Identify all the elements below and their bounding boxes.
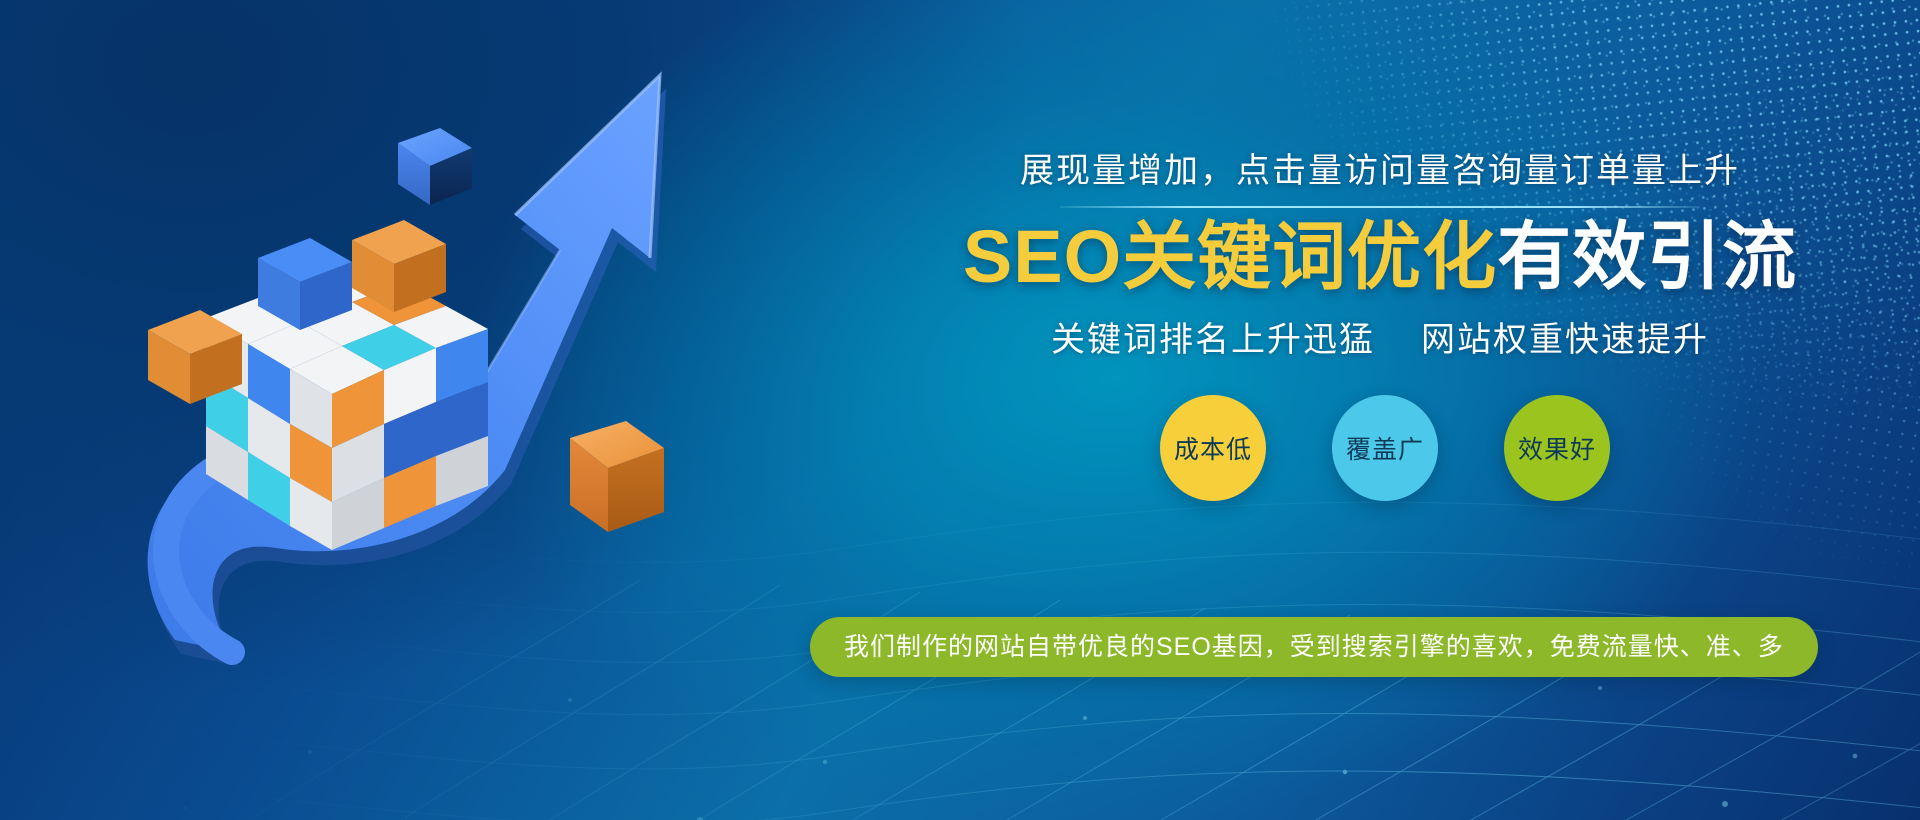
subline-right: 网站权重快速提升 xyxy=(1421,321,1709,359)
feature-circle-cost[interactable]: 成本低 xyxy=(1160,395,1266,501)
feature-circle-group: 成本低 覆盖广 效果好 xyxy=(880,395,1880,501)
feature-circle-cost-label: 成本低 xyxy=(1174,430,1252,466)
arrow-and-cube-illustration xyxy=(0,0,760,820)
feature-circle-effect-label: 效果好 xyxy=(1518,430,1596,466)
banner-copy-block: 展现量增加，点击量访问量咨询量订单量上升 SEO关键词优化有效引流 关键词排名上… xyxy=(880,150,1880,501)
headline: SEO关键词优化有效引流 xyxy=(880,216,1880,299)
eyebrow-text: 展现量增加，点击量访问量咨询量订单量上升 xyxy=(880,150,1880,193)
floating-orange-cube xyxy=(570,421,664,532)
seo-promo-banner: 展现量增加，点击量访问量咨询量订单量上升 SEO关键词优化有效引流 关键词排名上… xyxy=(0,0,1920,820)
feature-circle-reach[interactable]: 覆盖广 xyxy=(1332,395,1438,501)
floating-blue-cube xyxy=(398,128,472,205)
tagline-pill-wrapper: 我们制作的网站自带优良的SEO基因，受到搜索引擎的喜欢，免费流量快、准、多 xyxy=(810,617,1818,677)
headline-accent: SEO关键词优化 xyxy=(963,215,1497,298)
feature-circle-reach-label: 覆盖广 xyxy=(1346,430,1424,466)
tagline-pill: 我们制作的网站自带优良的SEO基因，受到搜索引擎的喜欢，免费流量快、准、多 xyxy=(810,617,1818,677)
feature-circle-effect[interactable]: 效果好 xyxy=(1504,395,1610,501)
subline-left: 关键词排名上升迅猛 xyxy=(1051,321,1375,359)
headline-plain: 有效引流 xyxy=(1497,215,1797,298)
subline: 关键词排名上升迅猛网站权重快速提升 xyxy=(880,312,1880,361)
title-divider-rule xyxy=(1060,206,1700,208)
